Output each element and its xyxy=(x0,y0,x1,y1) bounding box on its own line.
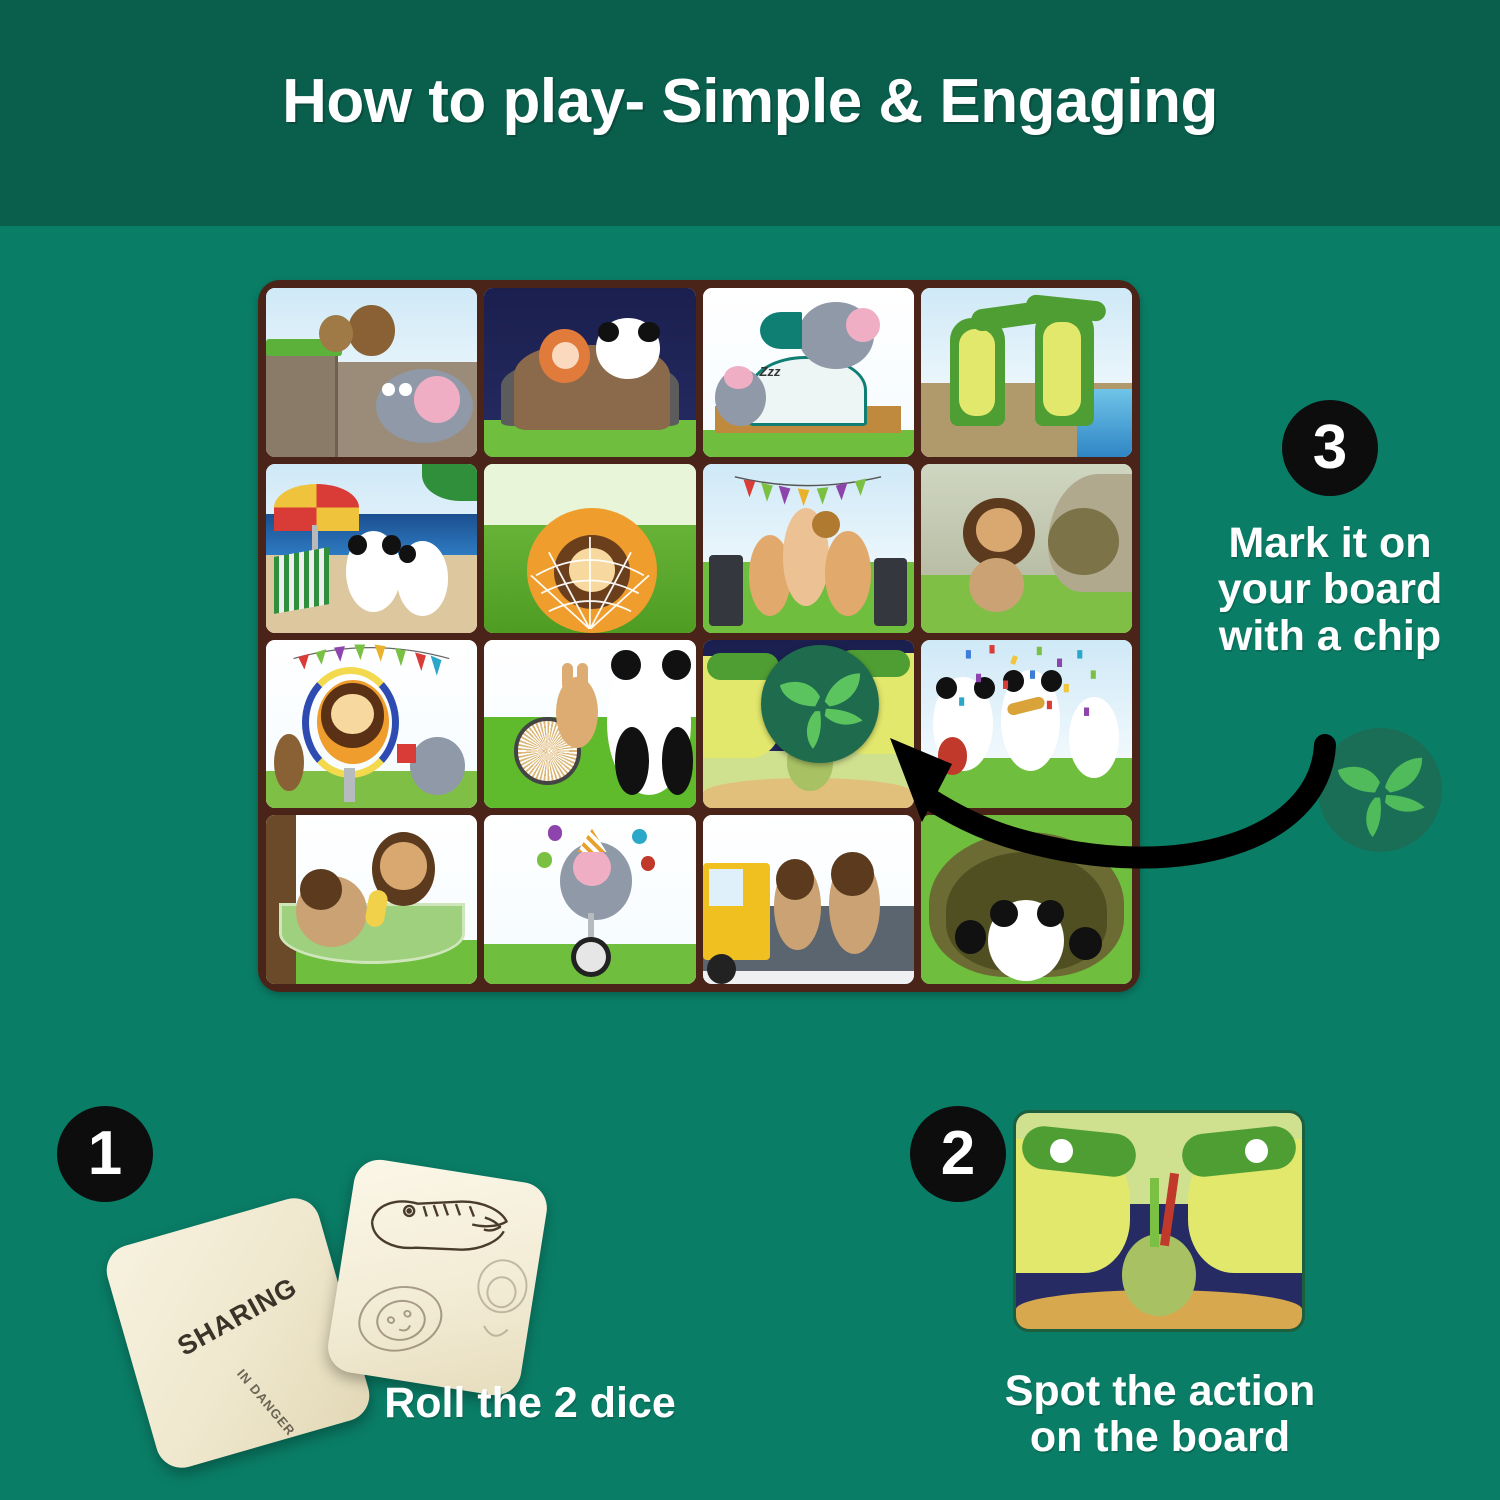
confetti-icon xyxy=(921,640,1132,758)
board-tile[interactable] xyxy=(921,815,1132,984)
step-1-caption: Roll the 2 dice xyxy=(300,1380,760,1426)
juggling-ball-icon xyxy=(632,829,647,844)
juggling-ball-icon xyxy=(537,852,552,867)
board-tile[interactable] xyxy=(921,640,1132,809)
tree-trunk-icon xyxy=(266,815,296,984)
monkey-icon xyxy=(274,734,304,791)
board-tile[interactable] xyxy=(703,464,914,633)
straw-icon xyxy=(1150,1178,1159,1247)
board-tile[interactable] xyxy=(921,288,1132,457)
board-tile[interactable]: Zzz xyxy=(703,288,914,457)
step-3-caption-line3: with a chip xyxy=(1160,613,1500,659)
speaker-icon xyxy=(709,555,743,626)
loose-chip[interactable] xyxy=(1318,728,1442,852)
boulder-icon xyxy=(1048,508,1120,576)
animal-die[interactable] xyxy=(324,1156,550,1399)
lion-outline-icon xyxy=(338,1269,462,1369)
baby-monkey-icon xyxy=(319,315,353,352)
board-tile[interactable] xyxy=(266,640,477,809)
juggling-ball-icon xyxy=(641,856,656,871)
speaker-icon xyxy=(874,558,908,626)
board-tile[interactable] xyxy=(266,288,477,457)
leaf-chip-icon xyxy=(761,645,879,763)
rabbit-icon xyxy=(825,531,871,615)
juggling-ball-icon xyxy=(548,825,563,840)
step-3-badge: 3 xyxy=(1282,400,1378,496)
board-tile[interactable] xyxy=(484,464,695,633)
board-tile[interactable] xyxy=(484,288,695,457)
monkey-icon xyxy=(348,305,394,356)
board-tile[interactable] xyxy=(921,464,1132,633)
elephant-icon xyxy=(410,737,465,794)
step-2-example-card[interactable] xyxy=(1013,1110,1305,1332)
coconut-icon xyxy=(1122,1234,1196,1316)
step-3-block: 3 Mark it on your board with a chip xyxy=(1160,400,1500,659)
step-2-caption-line1: Spot the action xyxy=(930,1368,1390,1414)
board-tile[interactable] xyxy=(266,815,477,984)
leaf-chip-icon xyxy=(1318,728,1442,852)
die-face-in-danger-label: IN DANGER xyxy=(222,1352,311,1454)
step-3-caption: Mark it on your board with a chip xyxy=(1160,520,1500,659)
step-3-caption-line1: Mark it on xyxy=(1160,520,1500,566)
page-title: How to play- Simple & Engaging xyxy=(0,66,1500,137)
sleep-zzz-label: Zzz xyxy=(760,364,781,379)
game-board[interactable]: Zzz xyxy=(258,280,1140,992)
deck-chair-icon xyxy=(274,547,329,614)
flag-icon xyxy=(760,312,802,349)
board-chip-marker[interactable] xyxy=(761,645,879,763)
board-tile[interactable] xyxy=(484,815,695,984)
unicycle-wheel-icon xyxy=(571,937,611,978)
step-2-caption: Spot the action on the board xyxy=(930,1368,1390,1461)
microphone-icon xyxy=(812,511,839,538)
step-3-caption-line2: your board xyxy=(1160,566,1500,612)
step-2-badge: 2 xyxy=(910,1106,1006,1202)
board-tile[interactable] xyxy=(484,640,695,809)
board-tile[interactable] xyxy=(703,815,914,984)
step-2-caption-line2: on the board xyxy=(930,1414,1390,1460)
board-tile[interactable] xyxy=(266,464,477,633)
flag-icon xyxy=(397,744,416,763)
spider-web-icon xyxy=(497,501,683,629)
